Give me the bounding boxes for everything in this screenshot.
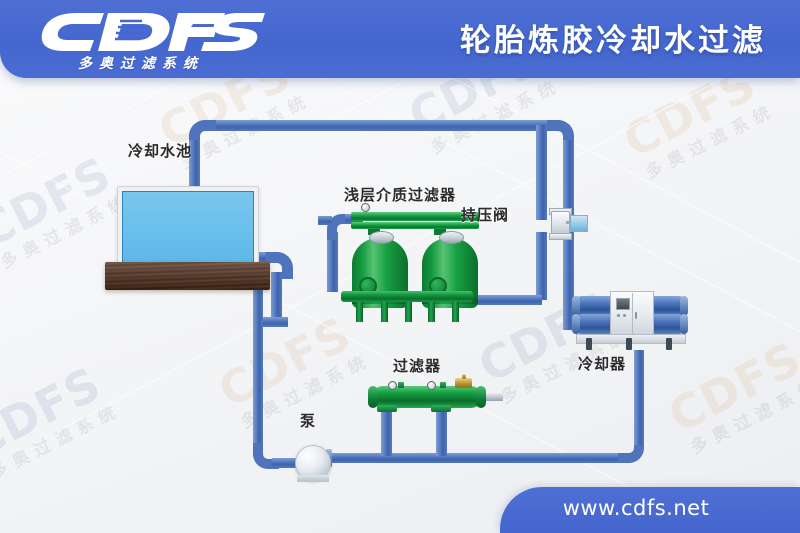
cooling-water-pool bbox=[117, 186, 259, 273]
media-filter-top-manifold-2 bbox=[351, 222, 479, 229]
media-filter-bottom-manifold bbox=[341, 291, 473, 302]
pool-base bbox=[105, 262, 270, 290]
watermark-subtext: 多奥过滤系统 bbox=[0, 186, 135, 274]
cylinder-end bbox=[572, 296, 580, 316]
cooler-foot bbox=[626, 338, 632, 350]
bag-filter-brass-stem bbox=[462, 374, 466, 379]
vessel-leg bbox=[381, 302, 388, 322]
cabinet-knob[interactable] bbox=[617, 314, 620, 317]
valve-actuator bbox=[570, 215, 588, 232]
pool-water bbox=[122, 191, 254, 268]
watermark-text: CDFS bbox=[0, 356, 110, 468]
valve-flange-bottom bbox=[549, 233, 572, 240]
watermark-text: CDFS bbox=[0, 146, 120, 258]
pump-base bbox=[297, 475, 329, 482]
bag-filter-gauge-right bbox=[427, 381, 436, 390]
bag-filter-gauge-left bbox=[388, 381, 397, 390]
cylinder-end bbox=[680, 296, 688, 316]
cooler-foot bbox=[666, 338, 672, 350]
vessel-manway-2 bbox=[439, 231, 464, 244]
page-title: 轮胎炼胶冷却水过滤 bbox=[460, 15, 766, 60]
pipe-filter-outlet bbox=[470, 295, 542, 305]
bag-filter-leg-flange-right bbox=[431, 405, 451, 412]
bag-filter-nozzle-left bbox=[398, 382, 404, 388]
brand-subtitle: 多奥过滤系统 bbox=[78, 53, 204, 73]
pipe-valve-riser-lower bbox=[536, 232, 547, 300]
vessel-manway-1 bbox=[369, 231, 394, 244]
pipe-suction-downcomer bbox=[271, 272, 282, 322]
watermark-subtext: 多奥过滤系统 bbox=[0, 396, 125, 484]
cylinder-end bbox=[572, 314, 580, 334]
label-pump: 泵 bbox=[300, 410, 316, 431]
vessel-leg bbox=[452, 302, 459, 322]
page-header: ® 多奥过滤系统 轮胎炼胶冷却水过滤 bbox=[0, 0, 800, 78]
pipe-mediafilter-feed-riser bbox=[327, 232, 338, 292]
cabinet-handle[interactable] bbox=[635, 312, 637, 319]
pipe-top-main bbox=[205, 120, 558, 131]
label-media-filter: 浅层介质过滤器 bbox=[344, 184, 456, 205]
label-bag-filter: 过滤器 bbox=[393, 355, 441, 376]
bag-filter-endcap-right bbox=[476, 386, 486, 408]
pipe-bagfilter-outlet bbox=[436, 408, 447, 456]
pipe-bagfilter-inlet bbox=[381, 408, 392, 456]
vessel-leg bbox=[428, 302, 435, 322]
page-footer: www.cdfs.net bbox=[500, 487, 800, 533]
cooler-unit bbox=[570, 288, 690, 350]
cylinder-end bbox=[680, 314, 688, 334]
label-cooling-pool: 冷却水池 bbox=[128, 140, 192, 161]
pipe-cooler-downcomer bbox=[634, 350, 644, 445]
vessel-leg bbox=[356, 302, 363, 322]
bag-filter-leg-flange-left bbox=[377, 405, 397, 412]
bag-filter-nozzle-right bbox=[440, 382, 446, 388]
label-cooler: 冷却器 bbox=[578, 353, 626, 374]
registered-trademark-icon: ® bbox=[242, 13, 251, 23]
bag-filter-brass-valve[interactable] bbox=[455, 378, 472, 388]
cabinet-display-screen bbox=[616, 298, 630, 310]
brand-logo: ® 多奥过滤系统 bbox=[38, 9, 368, 71]
cdfs-logo-icon bbox=[38, 9, 268, 55]
diagram-canvas: CDFS多奥过滤系统 CDFS多奥过滤系统 CDFS多奥过滤系统 CDFS多奥过… bbox=[0, 0, 800, 533]
website-url[interactable]: www.cdfs.net bbox=[500, 496, 772, 520]
watermark-subtext: 多奥过滤系统 bbox=[685, 371, 800, 459]
cooler-foot bbox=[586, 338, 592, 350]
vessel-leg bbox=[405, 302, 412, 322]
pipe-mediafilter-top-stub bbox=[318, 216, 332, 225]
cabinet-knob[interactable] bbox=[623, 314, 626, 317]
label-pressure-valve: 持压阀 bbox=[461, 204, 509, 225]
pipe-valve-riser bbox=[536, 125, 547, 220]
pressure-sustaining-valve bbox=[551, 208, 591, 238]
pipe-suction-left-leg bbox=[253, 266, 263, 456]
media-filter-top-manifold bbox=[351, 212, 479, 221]
pipe-bottom-main bbox=[328, 453, 628, 463]
pump-unit bbox=[295, 445, 331, 479]
cabinet-door-split bbox=[632, 293, 633, 334]
cooler-control-cabinet[interactable] bbox=[610, 291, 654, 336]
watermark-subtext: 多奥过滤系统 bbox=[640, 96, 780, 184]
